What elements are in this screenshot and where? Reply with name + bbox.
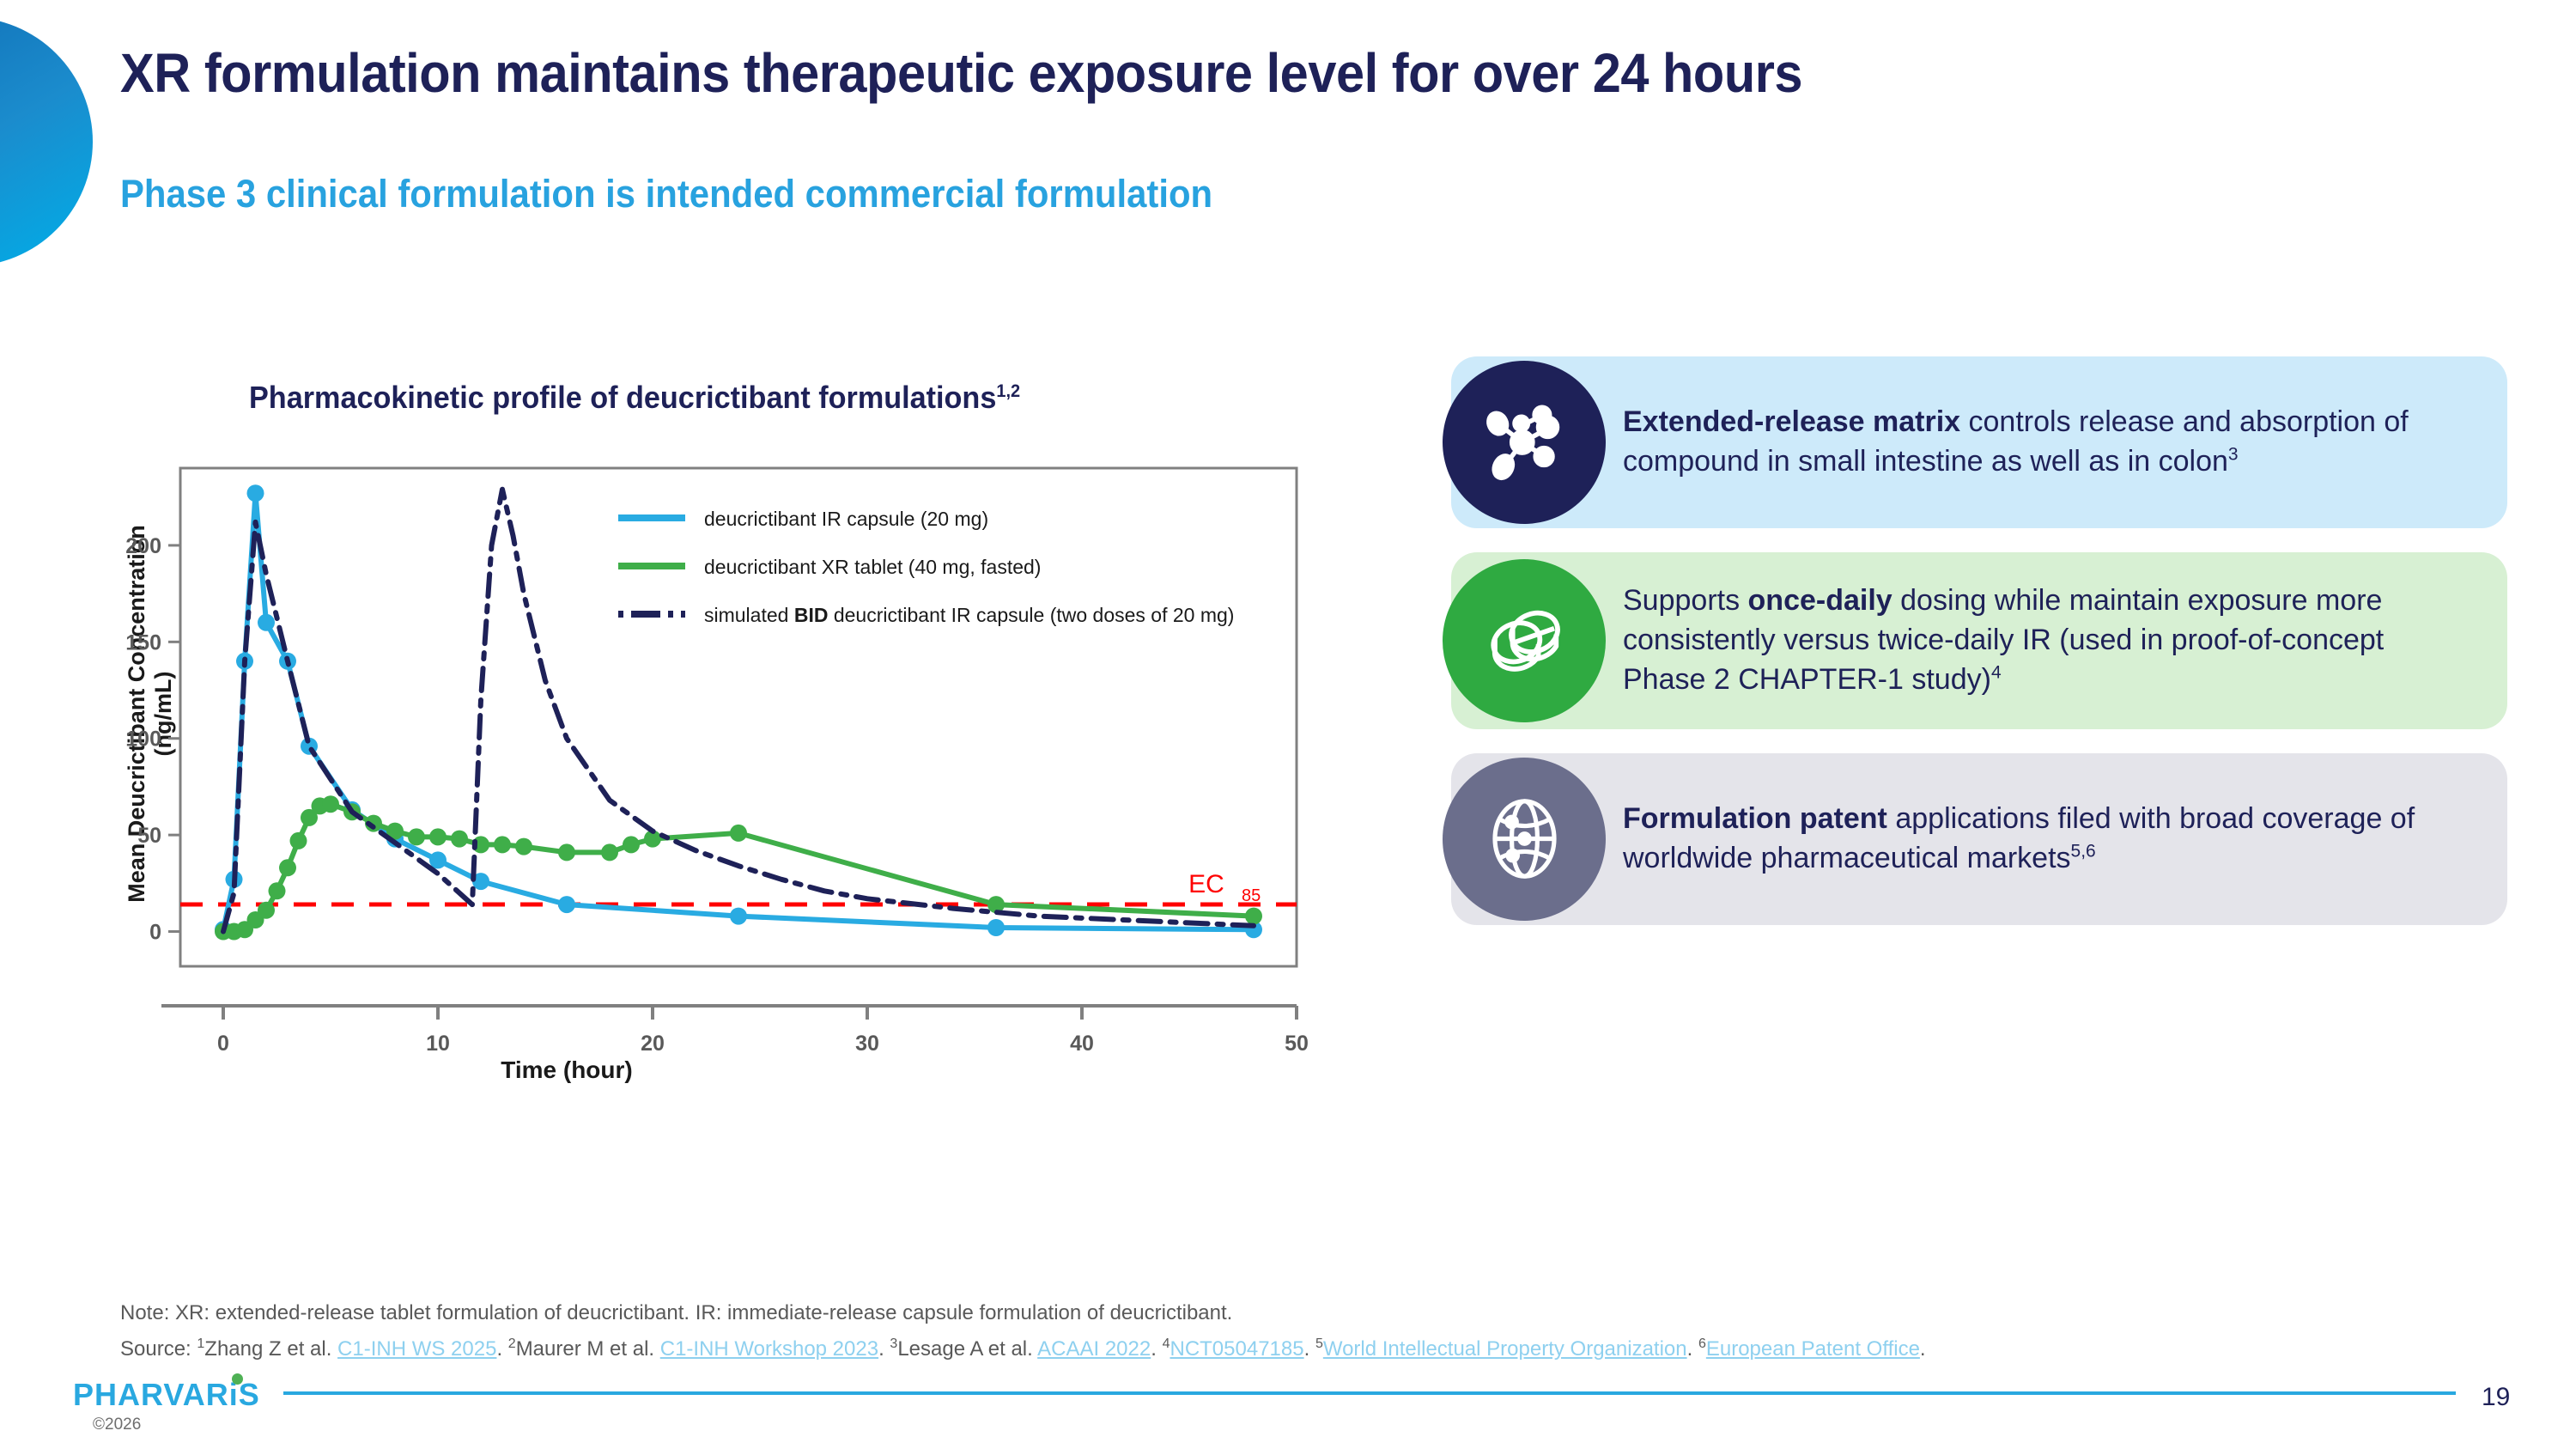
ref-number: 5 (1315, 1336, 1323, 1351)
page-subtitle: Phase 3 clinical formulation is intended… (120, 172, 1212, 216)
legend-label-2: simulated BID deucrictibant IR capsule (… (704, 604, 1234, 626)
card-body: Formulation patent applications filed wi… (1451, 770, 2507, 908)
ref-text: Zhang Z et al. (204, 1337, 337, 1361)
svg-text:85: 85 (1242, 886, 1261, 905)
decorative-arc (0, 17, 93, 266)
ref-link[interactable]: C1-INH Workshop 2023 (660, 1337, 878, 1361)
card-body: Supports once-daily dosing while maintai… (1451, 552, 2507, 729)
card-text: Extended-release matrix controls release… (1623, 403, 2456, 482)
chart-plot-area: 05010015020001020304050EC85deucrictibant… (103, 451, 1322, 1052)
ref-link[interactable]: C1-INH WS 2025 (337, 1337, 496, 1361)
svg-text:EC: EC (1188, 870, 1224, 898)
ref-link[interactable]: NCT05047185 (1170, 1337, 1303, 1361)
ref-number: 6 (1698, 1336, 1706, 1351)
card-superscript: 5,6 (2071, 841, 2096, 861)
legend-label-1: deucrictibant XR tablet (40 mg, fasted) (704, 556, 1041, 578)
y-tick-label: 50 (137, 824, 161, 848)
card-formulation-patent: Formulation patent applications filed wi… (1451, 753, 2507, 925)
ref-text: Lesage A et al. (897, 1337, 1037, 1361)
globe-icon (1443, 758, 1606, 921)
y-tick-label: 100 (125, 728, 161, 752)
ec85-label: EC85 (1188, 870, 1261, 905)
series-marker-0 (987, 919, 1005, 936)
pharvaris-logo: PHARVARiS (73, 1377, 260, 1413)
series-marker-0 (558, 896, 575, 913)
slide: XR formulation maintains therapeutic exp… (0, 0, 2576, 1449)
series-marker-1 (451, 831, 468, 848)
series-marker-1 (558, 843, 575, 861)
chart-title-text: Pharmacokinetic profile of deucrictibant… (249, 380, 996, 415)
ref-number: 3 (890, 1336, 897, 1351)
page-number: 19 (2482, 1383, 2510, 1412)
series-marker-1 (429, 828, 447, 845)
series-marker-1 (1245, 908, 1262, 925)
card-bold-text: once-daily (1748, 584, 1893, 617)
card-body: Extended-release matrix controls release… (1451, 374, 2507, 511)
x-tick-label: 20 (641, 1032, 665, 1052)
series-marker-1 (290, 832, 307, 849)
plot-frame (180, 468, 1297, 966)
card-bold-text: Formulation patent (1623, 802, 1887, 835)
ref-number: 2 (508, 1336, 516, 1351)
card-text: Supports once-daily dosing while maintai… (1623, 581, 2456, 700)
series-marker-0 (258, 614, 275, 631)
card-lead-text: Supports (1623, 584, 1748, 617)
footnote-source: Source: 1Zhang Z et al. C1-INH WS 2025. … (120, 1336, 1926, 1361)
series-marker-1 (258, 902, 275, 919)
ref-link[interactable]: European Patent Office (1706, 1337, 1920, 1361)
series-marker-0 (730, 908, 747, 925)
y-tick-label: 200 (125, 534, 161, 558)
series-marker-1 (408, 828, 425, 845)
x-tick-label: 10 (426, 1032, 450, 1052)
legend-label-0: deucrictibant IR capsule (20 mg) (704, 508, 988, 530)
y-tick-label: 150 (125, 630, 161, 654)
tablets-icon (1443, 559, 1606, 722)
ref-link[interactable]: World Intellectual Property Organization (1323, 1337, 1687, 1361)
series-marker-1 (279, 859, 296, 876)
ref-number: 1 (197, 1336, 204, 1351)
series-marker-1 (322, 795, 339, 813)
chart-title-superscript: 1,2 (996, 381, 1020, 401)
series-marker-1 (623, 836, 640, 853)
footer-divider (283, 1391, 2456, 1395)
card-text: Formulation patent applications filed wi… (1623, 800, 2456, 879)
card-bold-text: Extended-release matrix (1623, 405, 1960, 438)
page-title: XR formulation maintains therapeutic exp… (120, 41, 1802, 105)
y-tick-label: 0 (149, 921, 161, 945)
y-axis: 050100150200 (125, 468, 180, 966)
logo-dot (232, 1373, 243, 1385)
series-marker-1 (494, 836, 511, 853)
molecule-icon (1443, 361, 1606, 524)
ref-text: Maurer M et al. (516, 1337, 660, 1361)
card-superscript: 4 (1991, 662, 2002, 682)
chart-legend: deucrictibant IR capsule (20 mg)deucrict… (618, 508, 1234, 626)
feature-cards: Extended-release matrix controls release… (1451, 356, 2507, 949)
x-tick-label: 0 (217, 1032, 229, 1052)
card-extended-release: Extended-release matrix controls release… (1451, 356, 2507, 528)
series-marker-1 (601, 843, 618, 861)
x-axis: 01020304050 (161, 1006, 1309, 1052)
card-superscript: 3 (2228, 445, 2239, 465)
x-axis-label: Time (hour) (309, 1056, 824, 1084)
series-marker-1 (515, 838, 532, 855)
copyright: ©2026 (93, 1416, 141, 1434)
series-marker-1 (730, 825, 747, 842)
pharmacokinetic-chart: Pharmacokinetic profile of deucrictibant… (103, 369, 1322, 1108)
footnote-note: Note: XR: extended-release tablet formul… (120, 1301, 1232, 1325)
series-marker-1 (269, 882, 286, 899)
ref-link[interactable]: ACAAI 2022 (1037, 1337, 1151, 1361)
x-tick-label: 50 (1285, 1032, 1309, 1052)
x-tick-label: 40 (1070, 1032, 1094, 1052)
card-once-daily: Supports once-daily dosing while maintai… (1451, 552, 2507, 729)
chart-title: Pharmacokinetic profile of deucrictibant… (249, 380, 1020, 416)
series-marker-0 (247, 484, 264, 502)
x-tick-label: 30 (855, 1032, 879, 1052)
